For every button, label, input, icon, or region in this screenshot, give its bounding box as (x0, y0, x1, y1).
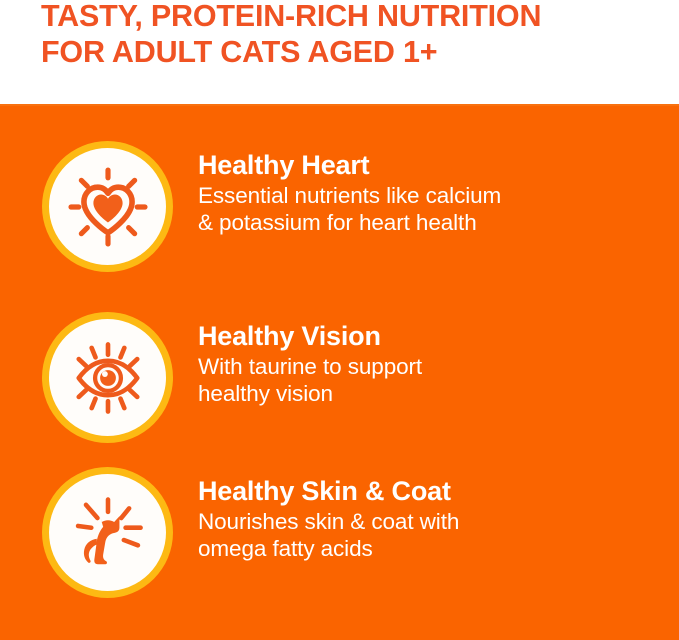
promo-panel: TASTY, PROTEIN-RICH NUTRITION FOR ADULT … (0, 0, 679, 640)
benefit-badge-cat (42, 467, 173, 598)
benefit-row: Healthy Vision With taurine to support h… (0, 312, 679, 444)
benefit-text-block: Healthy Vision With taurine to support h… (198, 321, 668, 407)
benefit-description: With taurine to support healthy vision (198, 353, 668, 407)
benefit-text-block: Healthy Skin & Coat Nourishes skin & coa… (198, 476, 668, 562)
header-band: TASTY, PROTEIN-RICH NUTRITION FOR ADULT … (0, 0, 679, 104)
benefit-description: Essential nutrients like calcium & potas… (198, 182, 668, 236)
benefit-text-block: Healthy Heart Essential nutrients like c… (198, 150, 668, 236)
cat-with-rays-icon (49, 474, 166, 591)
benefit-title: Healthy Vision (198, 321, 668, 351)
benefit-description: Nourishes skin & coat with omega fatty a… (198, 508, 668, 562)
benefit-row: Healthy Heart Essential nutrients like c… (0, 141, 679, 273)
benefit-title: Healthy Heart (198, 150, 668, 180)
benefit-row: Healthy Skin & Coat Nourishes skin & coa… (0, 467, 679, 599)
heart-with-rays-icon (49, 148, 166, 265)
benefit-title: Healthy Skin & Coat (198, 476, 668, 506)
panel-top-edge (0, 104, 679, 106)
eye-with-rays-icon (49, 319, 166, 436)
page-title: TASTY, PROTEIN-RICH NUTRITION FOR ADULT … (41, 0, 661, 70)
benefit-badge-eye (42, 312, 173, 443)
benefit-badge-heart (42, 141, 173, 272)
